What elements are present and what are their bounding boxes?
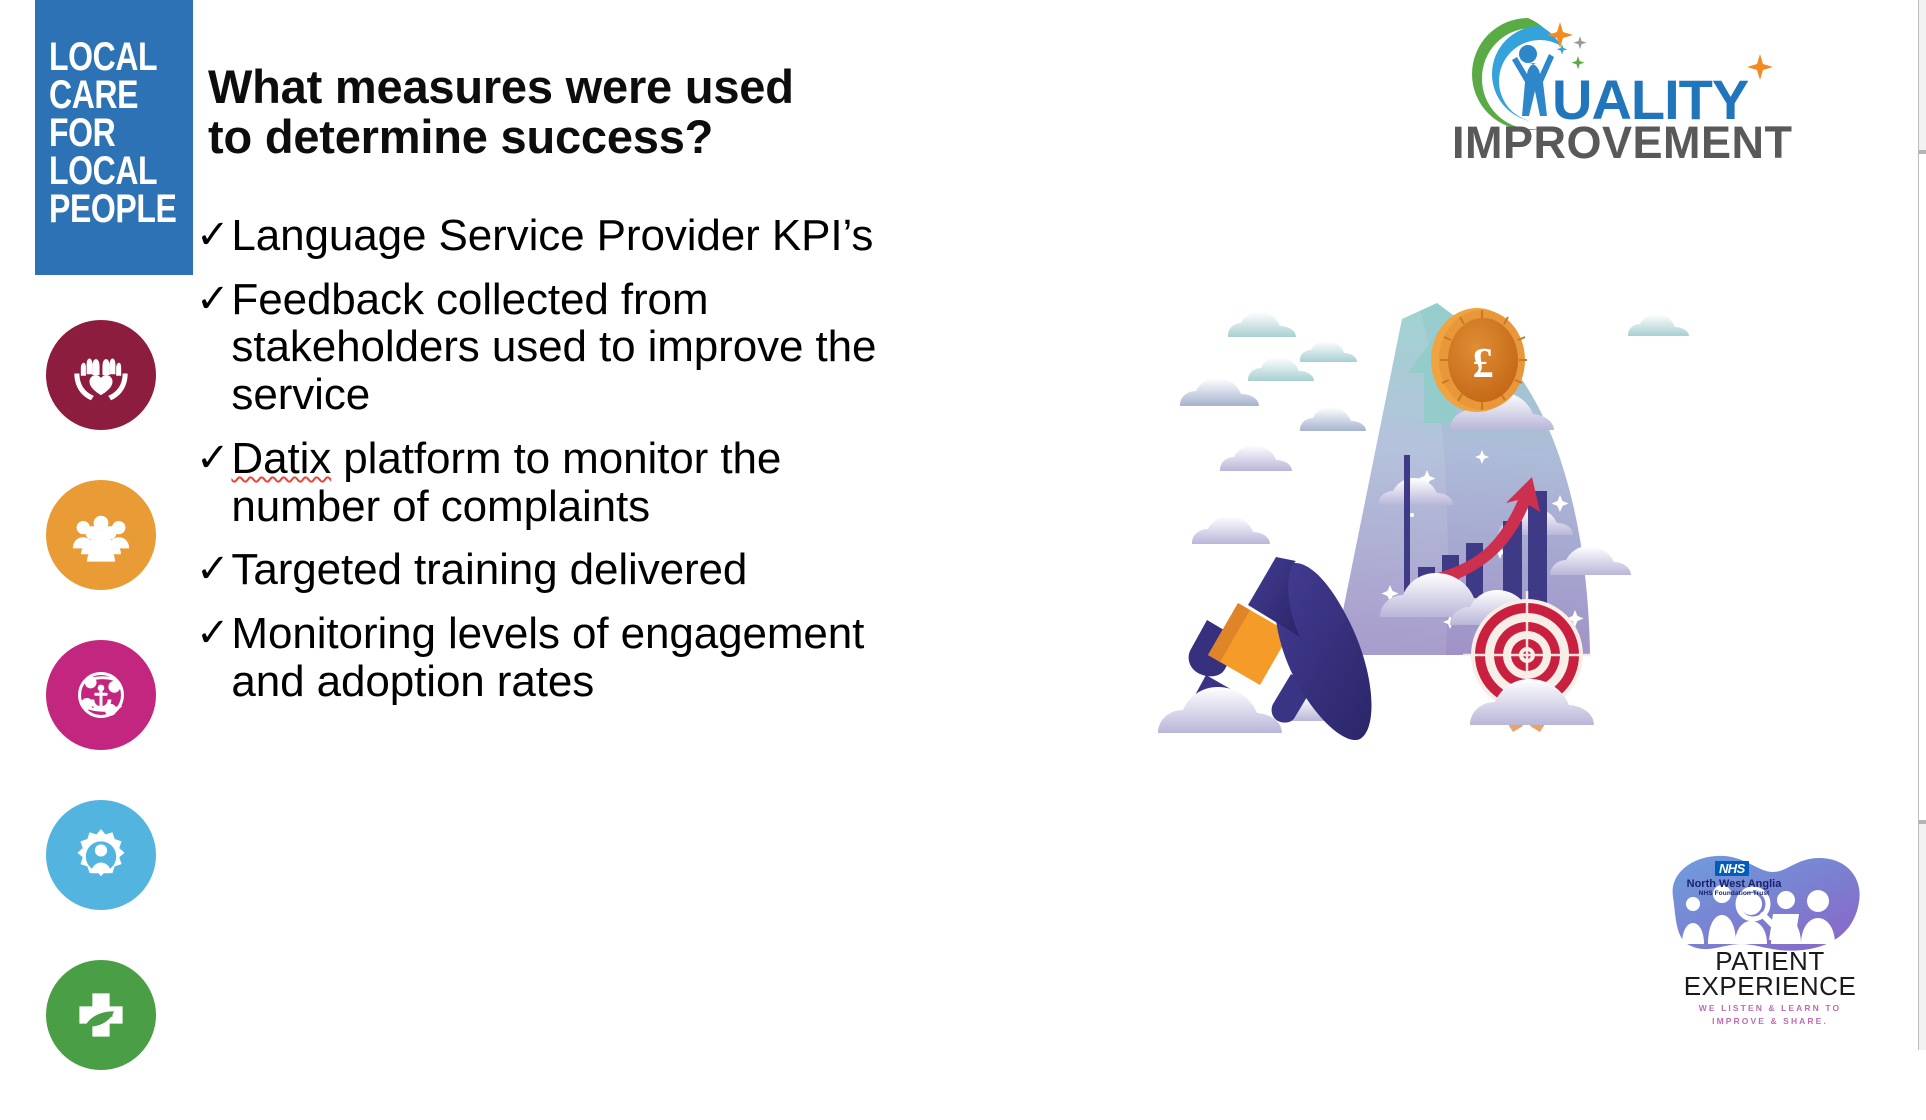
list-item: ✓ Monitoring levels of engagement and ad… <box>196 610 936 705</box>
anchor-network-icon <box>46 640 156 750</box>
medical-cross-leaf-icon <box>46 960 156 1070</box>
patient-experience-tagline: WE LISTEN & LEARN TO IMPROVE & SHARE. <box>1655 1002 1885 1028</box>
slide-canvas: LOCAL CARE FOR LOCAL PEOPLE <box>0 0 1926 1050</box>
values-icon-stack <box>46 320 186 1120</box>
patient-experience-logo: NHS North West Anglia NHS Foundation Tru… <box>1655 852 1885 1012</box>
misspelled-word: Datix <box>231 434 331 483</box>
list-item: ✓ Language Service Provider KPI’s <box>196 212 936 260</box>
check-icon: ✓ <box>196 546 229 594</box>
list-item: ✓ Datix platform to monitor the number o… <box>196 435 936 530</box>
scrollbar-tick-upper <box>1919 150 1926 154</box>
list-item-label: Datix platform to monitor the number of … <box>231 435 936 530</box>
patient-experience-title: PATIENT EXPERIENCE <box>1655 949 1885 999</box>
measures-bullet-list: ✓ Language Service Provider KPI’s ✓ Feed… <box>196 212 936 722</box>
caring-hands-heart-icon <box>46 320 156 430</box>
quality-improvement-logo: UALITY IMPROVEMENT <box>1452 14 1782 174</box>
check-icon: ✓ <box>196 435 229 483</box>
icon-slot-4 <box>46 800 156 910</box>
list-item-label: Feedback collected from stakeholders use… <box>231 276 936 419</box>
check-icon: ✓ <box>196 610 229 658</box>
nhs-trust-name-text: North West Anglia <box>1687 878 1782 890</box>
list-item: ✓ Feedback collected from stakeholders u… <box>196 276 936 419</box>
list-item-label: Monitoring levels of engagement and adop… <box>231 610 936 705</box>
megaphone-growth-illustration: £ <box>1150 255 1760 750</box>
people-group-icon <box>46 480 156 590</box>
scrollbar-segment-top[interactable] <box>1919 0 1926 152</box>
icon-slot-1 <box>46 320 156 430</box>
gear-person-icon <box>46 800 156 910</box>
icon-slot-3 <box>46 640 156 750</box>
slide-title: What measures were used to determine suc… <box>208 62 968 162</box>
check-icon: ✓ <box>196 276 229 324</box>
nhs-badge: NHS <box>1715 861 1749 876</box>
icon-slot-2 <box>46 480 156 590</box>
list-item: ✓ Targeted training delivered <box>196 546 936 594</box>
local-care-banner: LOCAL CARE FOR LOCAL PEOPLE <box>35 0 193 275</box>
list-item-label: Language Service Provider KPI’s <box>231 212 936 260</box>
nhs-trust-name: North West Anglia NHS Foundation Trust <box>1669 878 1799 898</box>
icon-slot-5 <box>46 960 156 1070</box>
local-care-banner-text: LOCAL CARE FOR LOCAL PEOPLE <box>49 38 167 228</box>
scrollbar-segment-bottom[interactable] <box>1919 822 1926 1050</box>
list-item-label: Targeted training delivered <box>231 546 936 594</box>
scrollbar-tick-lower <box>1919 820 1926 824</box>
svg-text:£: £ <box>1473 341 1494 387</box>
nhs-trust-subtext: NHS Foundation Trust <box>1669 890 1799 897</box>
check-icon: ✓ <box>196 212 229 260</box>
qi-logo-subtitle: IMPROVEMENT <box>1452 117 1793 169</box>
